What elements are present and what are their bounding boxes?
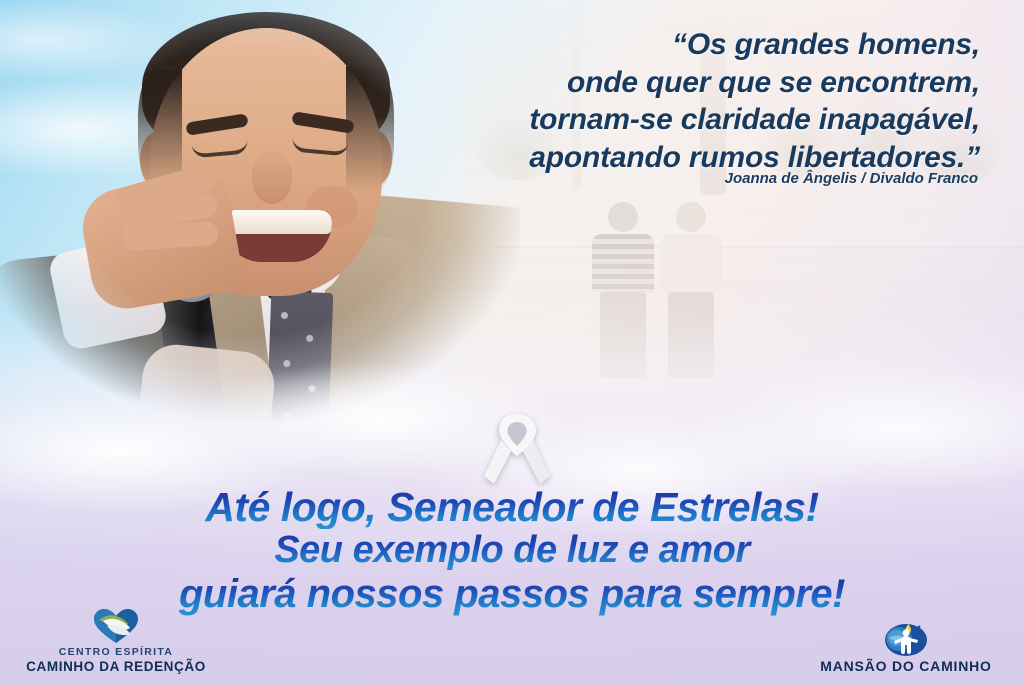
quote-line-2: onde quer que se encontrem, [420, 64, 980, 102]
headline-line-1: Até logo, Semeador de Estrelas! [0, 486, 1024, 529]
tribute-poster: “Os grandes homens, onde quer que se enc… [0, 0, 1024, 685]
quote-text: “Os grandes homens, onde quer que se enc… [420, 26, 980, 176]
quote-line-1: “Os grandes homens, [420, 26, 980, 64]
globe-figure-flame-icon [796, 618, 1016, 658]
heart-hands-icon [16, 606, 216, 646]
logo-right-line-2: MANSÃO DO CAMINHO [796, 658, 1016, 675]
background-person-striped-shirt [592, 202, 654, 378]
headline-line-2: Seu exemplo de luz e amor [0, 529, 1024, 572]
logo-mansao-do-caminho: MANSÃO DO CAMINHO [796, 618, 1016, 675]
headline: Até logo, Semeador de Estrelas! Seu exem… [0, 486, 1024, 616]
quote-line-3: tornam-se claridade inapagável, [420, 101, 980, 139]
background-person-white-shirt [660, 202, 722, 378]
white-mourning-ribbon-icon [482, 410, 552, 488]
quote-attribution: Joanna de Ângelis / Divaldo Franco [418, 170, 978, 187]
logo-left-line-2: CAMINHO DA REDENÇÃO [16, 659, 216, 675]
logo-left-line-1: CENTRO ESPÍRITA [16, 646, 216, 659]
logo-centro-espirita-caminho-da-redencao: CENTRO ESPÍRITA CAMINHO DA REDENÇÃO [16, 606, 216, 675]
